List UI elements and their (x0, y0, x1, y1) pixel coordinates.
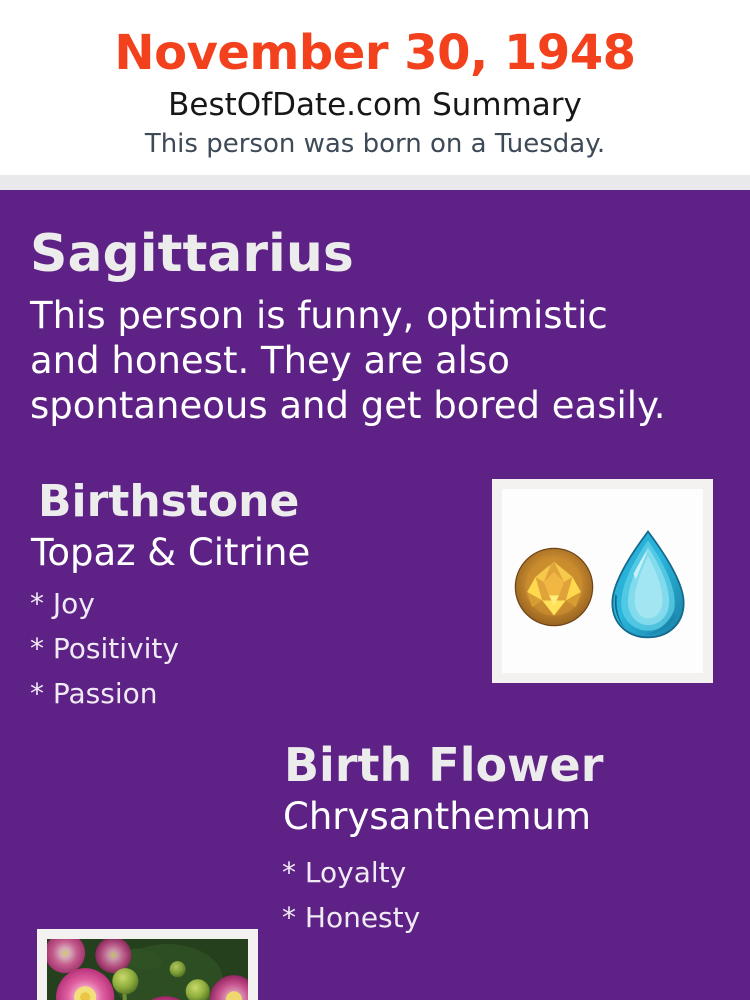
birth-flower-trait-list: * Loyalty * Honesty (282, 850, 702, 940)
born-day-note: This person was born on a Tuesday. (0, 128, 750, 160)
summary-card: November 30, 1948 BestOfDate.com Summary… (0, 0, 750, 1000)
list-item: * Loyalty (282, 850, 702, 895)
birthstone-image-card (492, 479, 713, 683)
birth-flower-image (47, 939, 248, 1000)
site-summary-label: BestOfDate.com Summary (0, 87, 750, 124)
details-panel: Sagittarius This person is funny, optimi… (0, 190, 750, 1000)
birthstone-heading: Birthstone (38, 476, 299, 528)
zodiac-description-line: spontaneous and get bored easily. (30, 383, 730, 428)
zodiac-description-line: This person is funny, optimistic (30, 293, 730, 338)
birth-flower-name: Chrysanthemum (283, 794, 591, 839)
birth-flower-heading: Birth Flower (284, 738, 603, 792)
birthstone-trait-list: * Joy * Positivity * Passion (30, 581, 460, 716)
list-item: * Joy (30, 581, 460, 626)
page-title-date: November 30, 1948 (0, 25, 750, 81)
header: November 30, 1948 BestOfDate.com Summary… (0, 0, 750, 175)
zodiac-description: This person is funny, optimistic and hon… (30, 293, 730, 428)
citrine-gem-icon (512, 545, 596, 629)
header-divider (0, 175, 750, 190)
birthstone-image (502, 489, 703, 673)
chrysanthemum-illustration-icon (47, 939, 248, 1000)
zodiac-description-line: and honest. They are also (30, 338, 730, 383)
list-item: * Passion (30, 671, 460, 716)
zodiac-sign-title: Sagittarius (30, 224, 354, 284)
birth-flower-image-card (37, 929, 258, 1000)
birthstone-name: Topaz & Citrine (31, 530, 310, 575)
topaz-gem-icon (609, 529, 687, 641)
list-item: * Honesty (282, 895, 702, 940)
list-item: * Positivity (30, 626, 460, 671)
